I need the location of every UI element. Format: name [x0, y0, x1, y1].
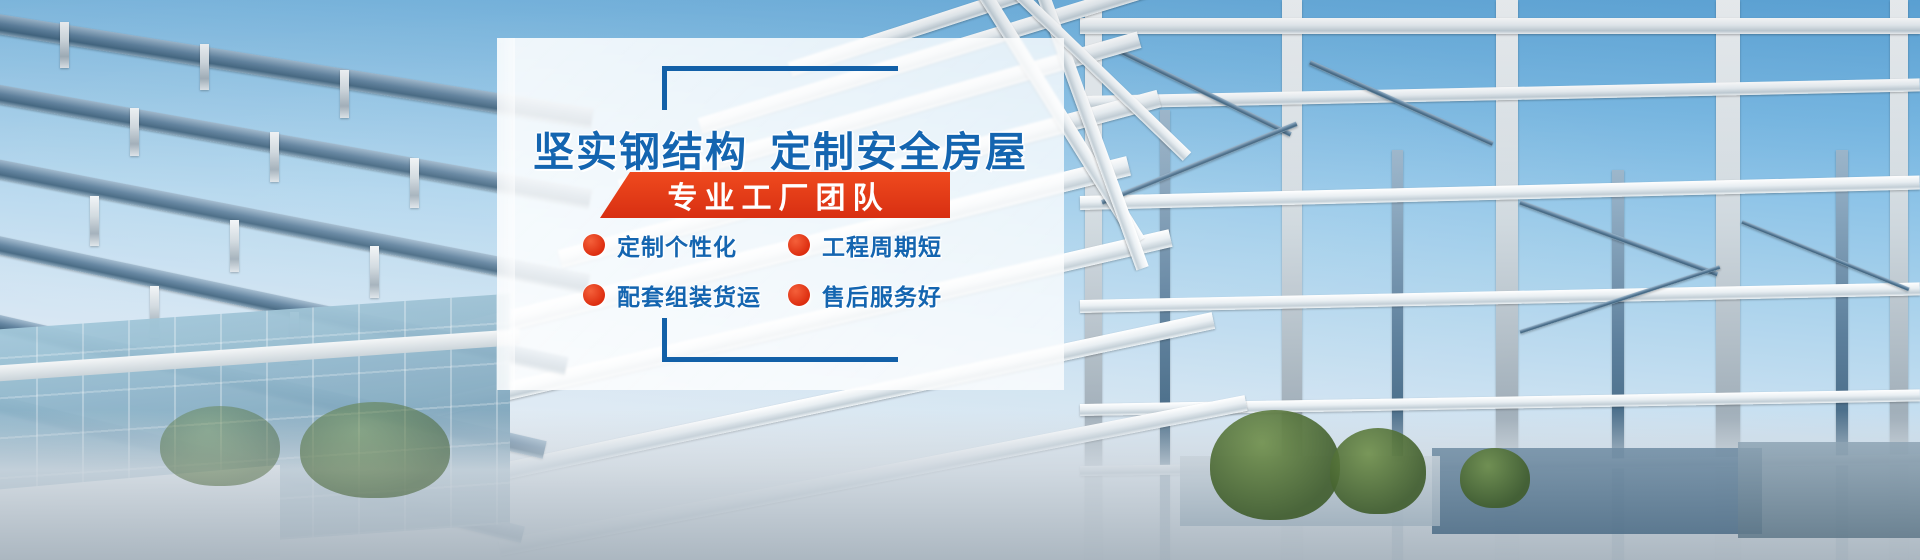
red-dot-icon [788, 234, 810, 256]
distant-building [1738, 442, 1920, 538]
feature-label: 工程周期短 [822, 228, 942, 262]
list-item: 定制个性化 [583, 228, 788, 262]
red-dot-icon [788, 284, 810, 306]
headline-part-2: 定制安全房屋 [770, 128, 1028, 176]
ribbon-label: 专业工厂团队 [661, 173, 890, 217]
tree [160, 406, 280, 486]
headline-part-1: 坚实钢结构 [533, 128, 748, 176]
tree [1210, 410, 1340, 520]
feature-label: 配套组装货运 [617, 278, 761, 312]
feature-list: 定制个性化 工程周期短 配套组装货运 售后服务好 [583, 228, 1003, 312]
red-dot-icon [583, 284, 605, 306]
hero-banner: 坚实钢结构定制安全房屋 专业工厂团队 定制个性化 工程周期短 配套组装货运 售后… [0, 0, 1920, 560]
list-item: 配套组装货运 [583, 278, 788, 312]
tree [300, 402, 450, 498]
content-panel-left-fade [497, 38, 515, 390]
feature-label: 售后服务好 [822, 278, 942, 312]
tree [1330, 428, 1426, 514]
red-dot-icon [583, 234, 605, 256]
list-item: 工程周期短 [788, 228, 1003, 262]
list-item: 售后服务好 [788, 278, 1003, 312]
bracket-corner-top-left-icon [662, 66, 898, 110]
feature-label: 定制个性化 [617, 228, 737, 262]
page-title: 坚实钢结构定制安全房屋 [497, 118, 1064, 178]
bracket-corner-bottom-left-icon [662, 318, 898, 362]
ribbon-badge: 专业工厂团队 [600, 172, 950, 218]
tree [1460, 448, 1530, 508]
